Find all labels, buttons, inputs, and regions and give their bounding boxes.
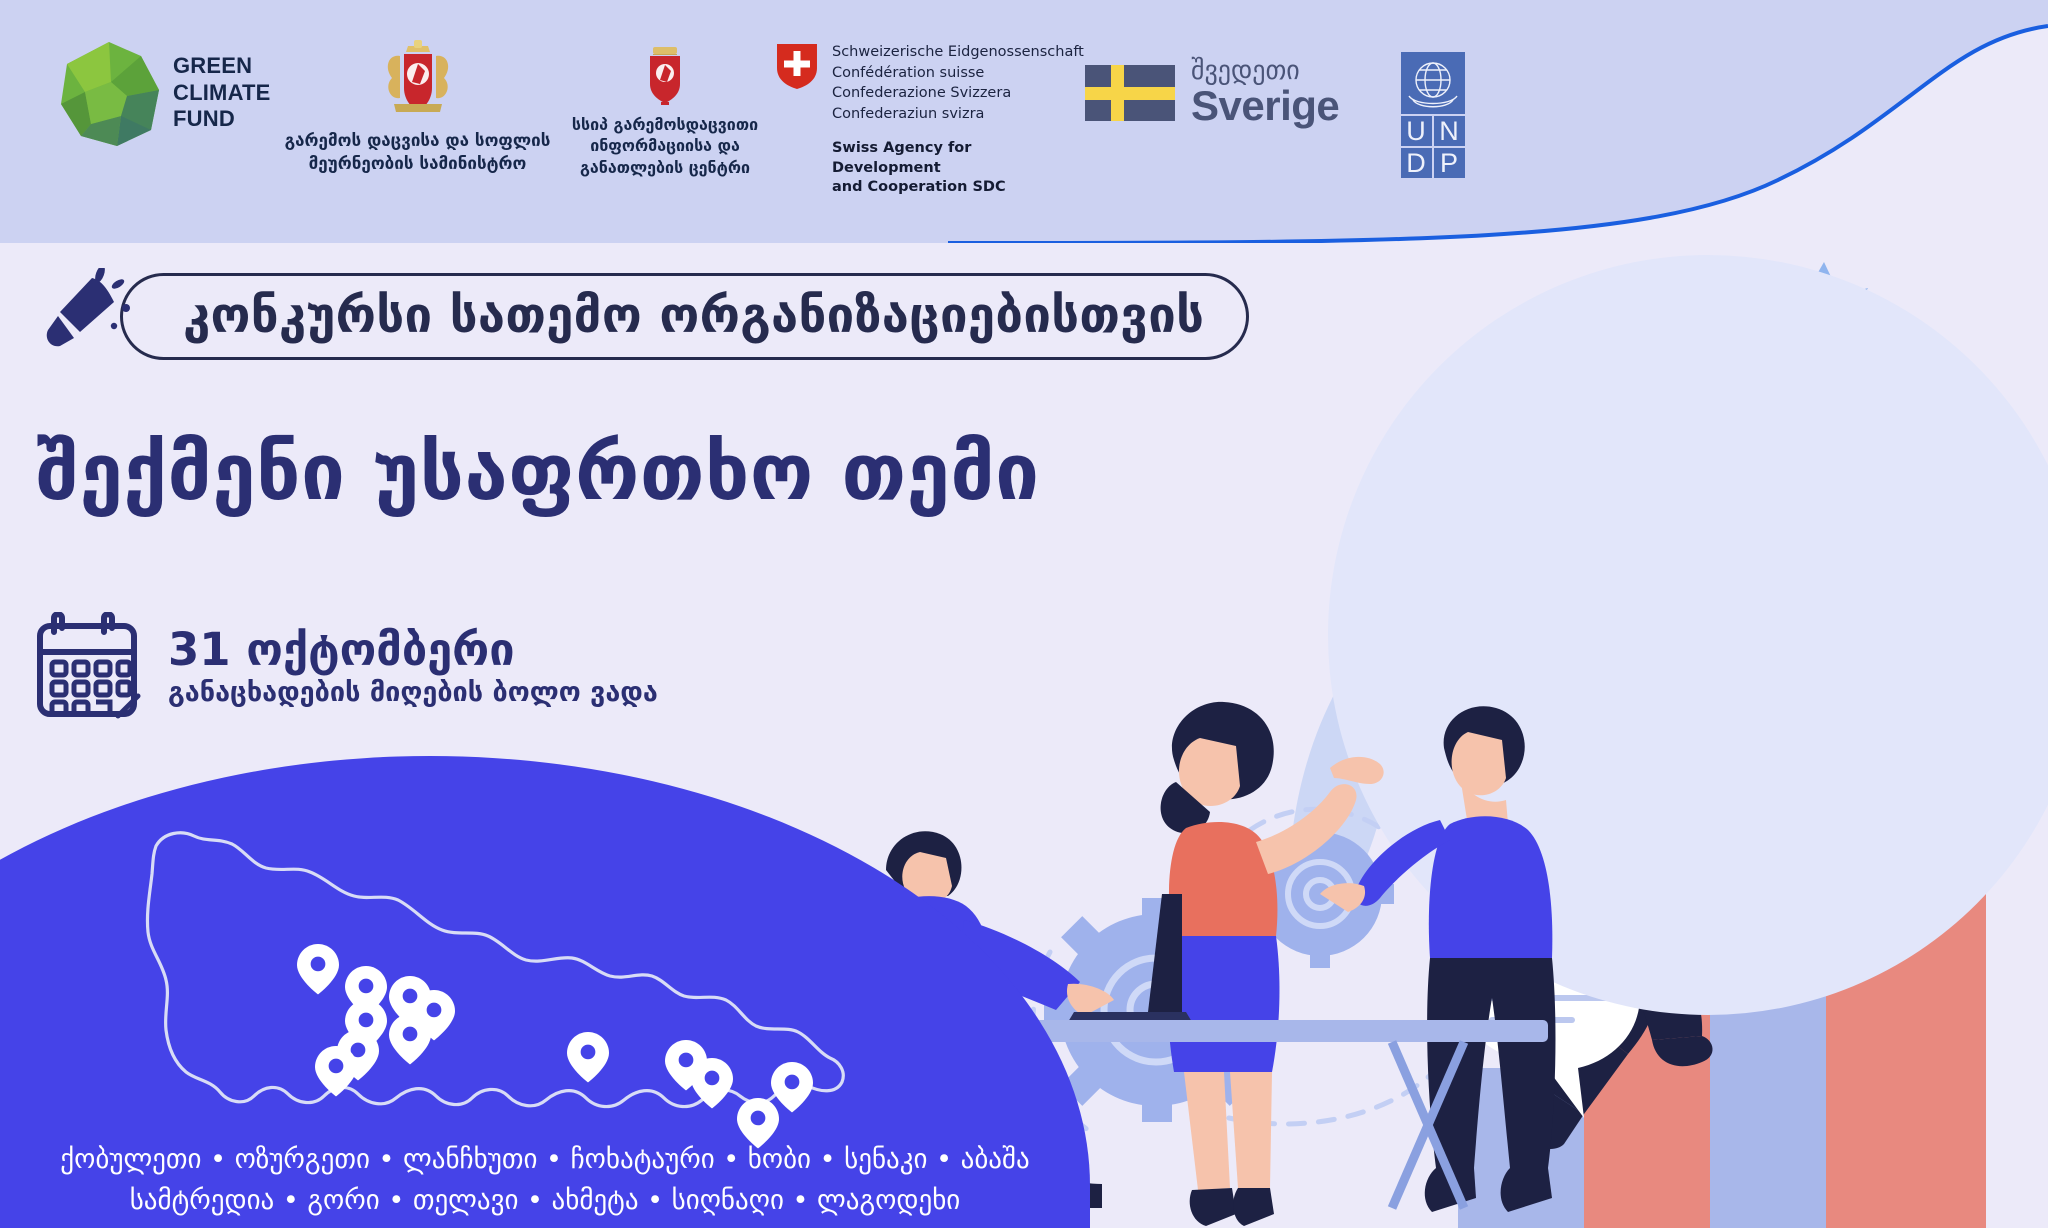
logo-undp: U N D P [1385, 38, 1505, 178]
gcf-line-2: CLIMATE [173, 80, 271, 107]
logo-green-climate-fund: GREEN CLIMATE FUND [55, 38, 280, 148]
swiss-agency-name: Swiss Agency for Development and Coopera… [832, 139, 1085, 198]
gcf-gem-icon [55, 38, 163, 148]
nea-line-1: სსიპ გარემოსდაცვითი [572, 114, 758, 135]
swiss-confederation-names: Schweizerische Eidgenossenschaft Confédé… [832, 42, 1085, 124]
svg-text:U: U [1406, 116, 1426, 146]
ministry-name: გარემოს დაცვისა და სოფლის მეურნეობის სამ… [285, 130, 551, 176]
location-pin-icon [389, 1014, 431, 1064]
swiss-agency-line-1: Swiss Agency for Development [832, 139, 1085, 178]
logo-swiss-cooperation: Schweizerische Eidgenossenschaft Confédé… [775, 38, 1085, 198]
deadline-text-block: 31 ოქტომბერი განაცხადების მიღების ბოლო ვ… [168, 612, 658, 708]
swiss-shield-icon [775, 42, 819, 90]
headline-banner: კონკურსი სათემო ორგანიზაციებისთვის [30, 268, 1249, 364]
sweden-flag-icon [1085, 65, 1175, 121]
undp-emblem-icon: U N D P [1385, 52, 1481, 178]
location-pin-icon [567, 1032, 609, 1082]
location-pin-icon [691, 1058, 733, 1108]
ministry-line-1: გარემოს დაცვისა და სოფლის [285, 130, 551, 153]
gcf-line-3: FUND [173, 106, 271, 133]
sweden-georgian-label: შვედეთი [1191, 58, 1339, 84]
swiss-line-2: Confédération suisse [832, 63, 1085, 84]
deadline-date: 31 ოქტომბერი [168, 626, 658, 673]
gcf-line-1: GREEN [173, 53, 271, 80]
donor-logo-bar: GREEN CLIMATE FUND გარემ [0, 0, 2048, 243]
donor-logo-row: GREEN CLIMATE FUND გარემ [55, 38, 1505, 198]
svg-text:N: N [1439, 116, 1459, 146]
swiss-line-1: Schweizerische Eidgenossenschaft [832, 42, 1085, 63]
gcf-wordmark: GREEN CLIMATE FUND [173, 53, 271, 133]
megaphone-icon [30, 268, 138, 364]
standing-man-figure [1320, 706, 1555, 1212]
deadline-description: განაცხადების მიღების ბოლო ვადა [168, 677, 658, 708]
logo-ministry-of-environment: გარემოს დაცვისა და სოფლის მეურნეობის სამ… [280, 38, 555, 176]
sweden-latin-label: Sverige [1191, 84, 1339, 128]
swiss-line-3: Confederazione Svizzera [832, 83, 1085, 104]
headline-pill: კონკურსი სათემო ორგანიზაციებისთვის [120, 273, 1249, 360]
swiss-agency-line-2: and Cooperation SDC [832, 178, 1085, 198]
municipality-line-2: სამტრედია • გორი • თელავი • ახმეტა • სიღ… [0, 1181, 1090, 1222]
location-pin-icon [771, 1062, 813, 1112]
calendar-icon [34, 612, 144, 720]
swiss-line-4: Confederaziun svizra [832, 104, 1085, 125]
nea-crest-icon [640, 46, 690, 106]
nea-name: სსიპ გარემოსდაცვითი ინფორმაციისა და განა… [572, 114, 758, 178]
page-title: შექმენი უსაფრთხო თემი [36, 428, 1040, 518]
svg-text:P: P [1440, 148, 1458, 178]
swiss-text-block: Schweizerische Eidgenossenschaft Confédé… [832, 42, 1085, 198]
logo-sweden-sverige: შვედეთი Sverige [1085, 38, 1385, 128]
georgia-coat-of-arms-icon [378, 38, 458, 124]
headline-text: კონკურსი სათემო ორგანიზაციებისთვის [183, 287, 1204, 344]
municipality-line-1: ქობულეთი • ოზურგეთი • ლანჩხუთი • ჩოხატაუ… [0, 1140, 1090, 1181]
logo-national-environmental-agency: სსიპ გარემოსდაცვითი ინფორმაციისა და განა… [555, 38, 775, 178]
location-pin-icon [297, 944, 339, 994]
nea-line-3: განათლების ცენტრი [572, 157, 758, 178]
standing-woman-figure [1161, 702, 1384, 1226]
ministry-line-2: მეურნეობის სამინისტრო [285, 153, 551, 176]
sweden-wordmark: შვედეთი Sverige [1191, 58, 1339, 128]
nea-line-2: ინფორმაციისა და [572, 135, 758, 156]
municipality-list: ქობულეთი • ოზურგეთი • ლანჩხუთი • ჩოხატაუ… [0, 1140, 1090, 1221]
map-pin-group [297, 944, 813, 1148]
poster-root: GREEN CLIMATE FUND გარემ [0, 0, 2048, 1228]
deadline-block: 31 ოქტომბერი განაცხადების მიღების ბოლო ვ… [34, 612, 658, 720]
svg-text:D: D [1406, 148, 1426, 178]
